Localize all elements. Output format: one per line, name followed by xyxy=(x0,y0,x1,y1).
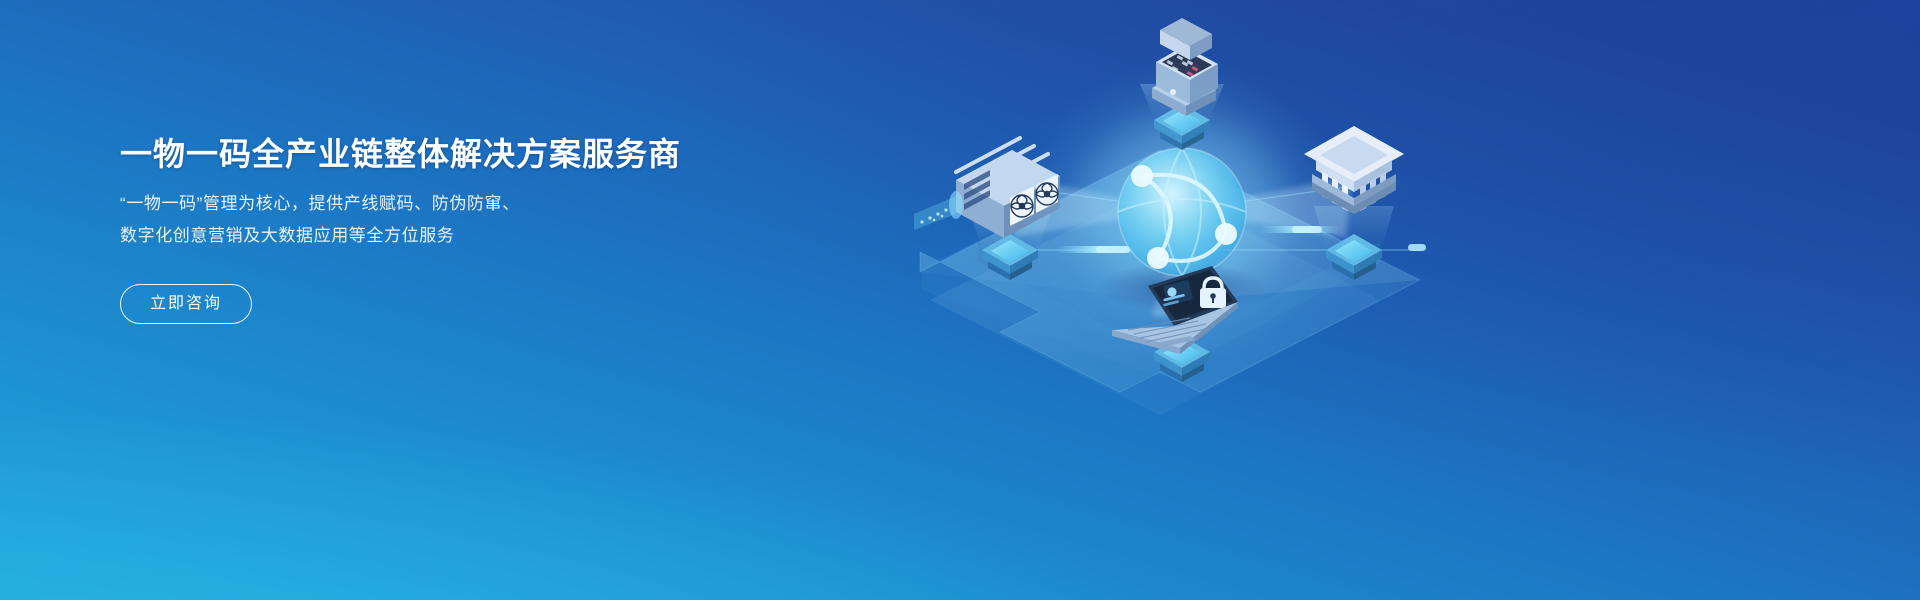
hero-banner: 一物一码全产业链整体解决方案服务商 “一物一码”管理为核心，提供产线赋码、防伪防… xyxy=(0,0,1920,600)
hero-subtitle-line-2: 数字化创意营销及大数据应用等全方位服务 xyxy=(120,220,760,252)
hero-copy-block: 一物一码全产业链整体解决方案服务商 “一物一码”管理为核心，提供产线赋码、防伪防… xyxy=(120,132,760,324)
hero-illustration xyxy=(860,0,1560,600)
consult-now-button[interactable]: 立即咨询 xyxy=(120,284,252,324)
page-title: 一物一码全产业链整体解决方案服务商 xyxy=(120,132,760,176)
cta-wrapper: 立即咨询 xyxy=(120,284,760,324)
hero-subtitle-line-1: “一物一码”管理为核心，提供产线赋码、防伪防窜、 xyxy=(120,188,760,220)
